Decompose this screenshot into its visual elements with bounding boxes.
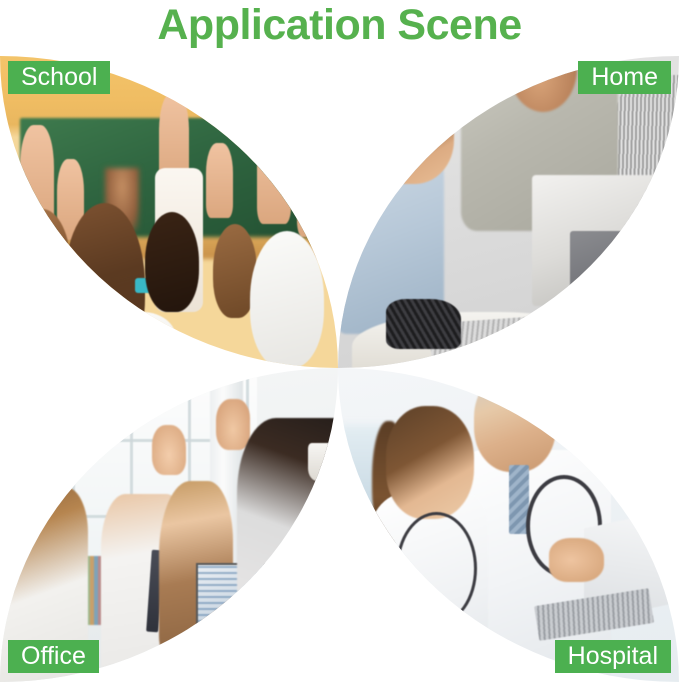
panel-hospital[interactable]: Hospital xyxy=(338,368,679,682)
cable-bundle xyxy=(386,299,461,349)
home-photo-art xyxy=(338,56,679,368)
printer-lower-panel xyxy=(570,231,659,306)
office-photo-art xyxy=(0,368,338,682)
panel-home[interactable]: Home xyxy=(338,56,679,368)
page-title: Application Scene xyxy=(0,0,679,54)
student-head-3 xyxy=(145,212,199,312)
high-five-hand-right xyxy=(216,399,250,449)
raised-arm-6 xyxy=(297,150,327,237)
panel-office[interactable]: Office xyxy=(0,368,338,682)
label-school: School xyxy=(8,61,110,94)
raised-arm-5 xyxy=(257,131,291,225)
school-photo xyxy=(0,56,338,368)
doctor-head-female xyxy=(386,406,475,519)
label-home: Home xyxy=(578,61,671,94)
label-hospital: Hospital xyxy=(555,640,671,673)
pointing-hand xyxy=(549,538,604,582)
boy-head xyxy=(365,84,454,184)
label-office: Office xyxy=(8,640,99,673)
application-scene-grid: School Home xyxy=(0,56,679,682)
student-head-1 xyxy=(14,209,71,328)
home-photo xyxy=(338,56,679,368)
stethoscope-female xyxy=(396,512,477,625)
student-shirt-white xyxy=(250,231,324,368)
raised-arm-4 xyxy=(206,143,233,218)
high-five-hand-left xyxy=(152,425,186,475)
coffee-cup xyxy=(308,443,335,481)
hospital-photo-art xyxy=(338,368,679,682)
student-shirt-2 xyxy=(88,312,176,368)
panel-school[interactable]: School xyxy=(0,56,338,368)
office-photo xyxy=(0,368,338,682)
school-photo-art xyxy=(0,56,338,368)
hospital-photo xyxy=(338,368,679,682)
hair-tie-left xyxy=(71,287,91,303)
senior-doctor-head xyxy=(474,371,556,471)
